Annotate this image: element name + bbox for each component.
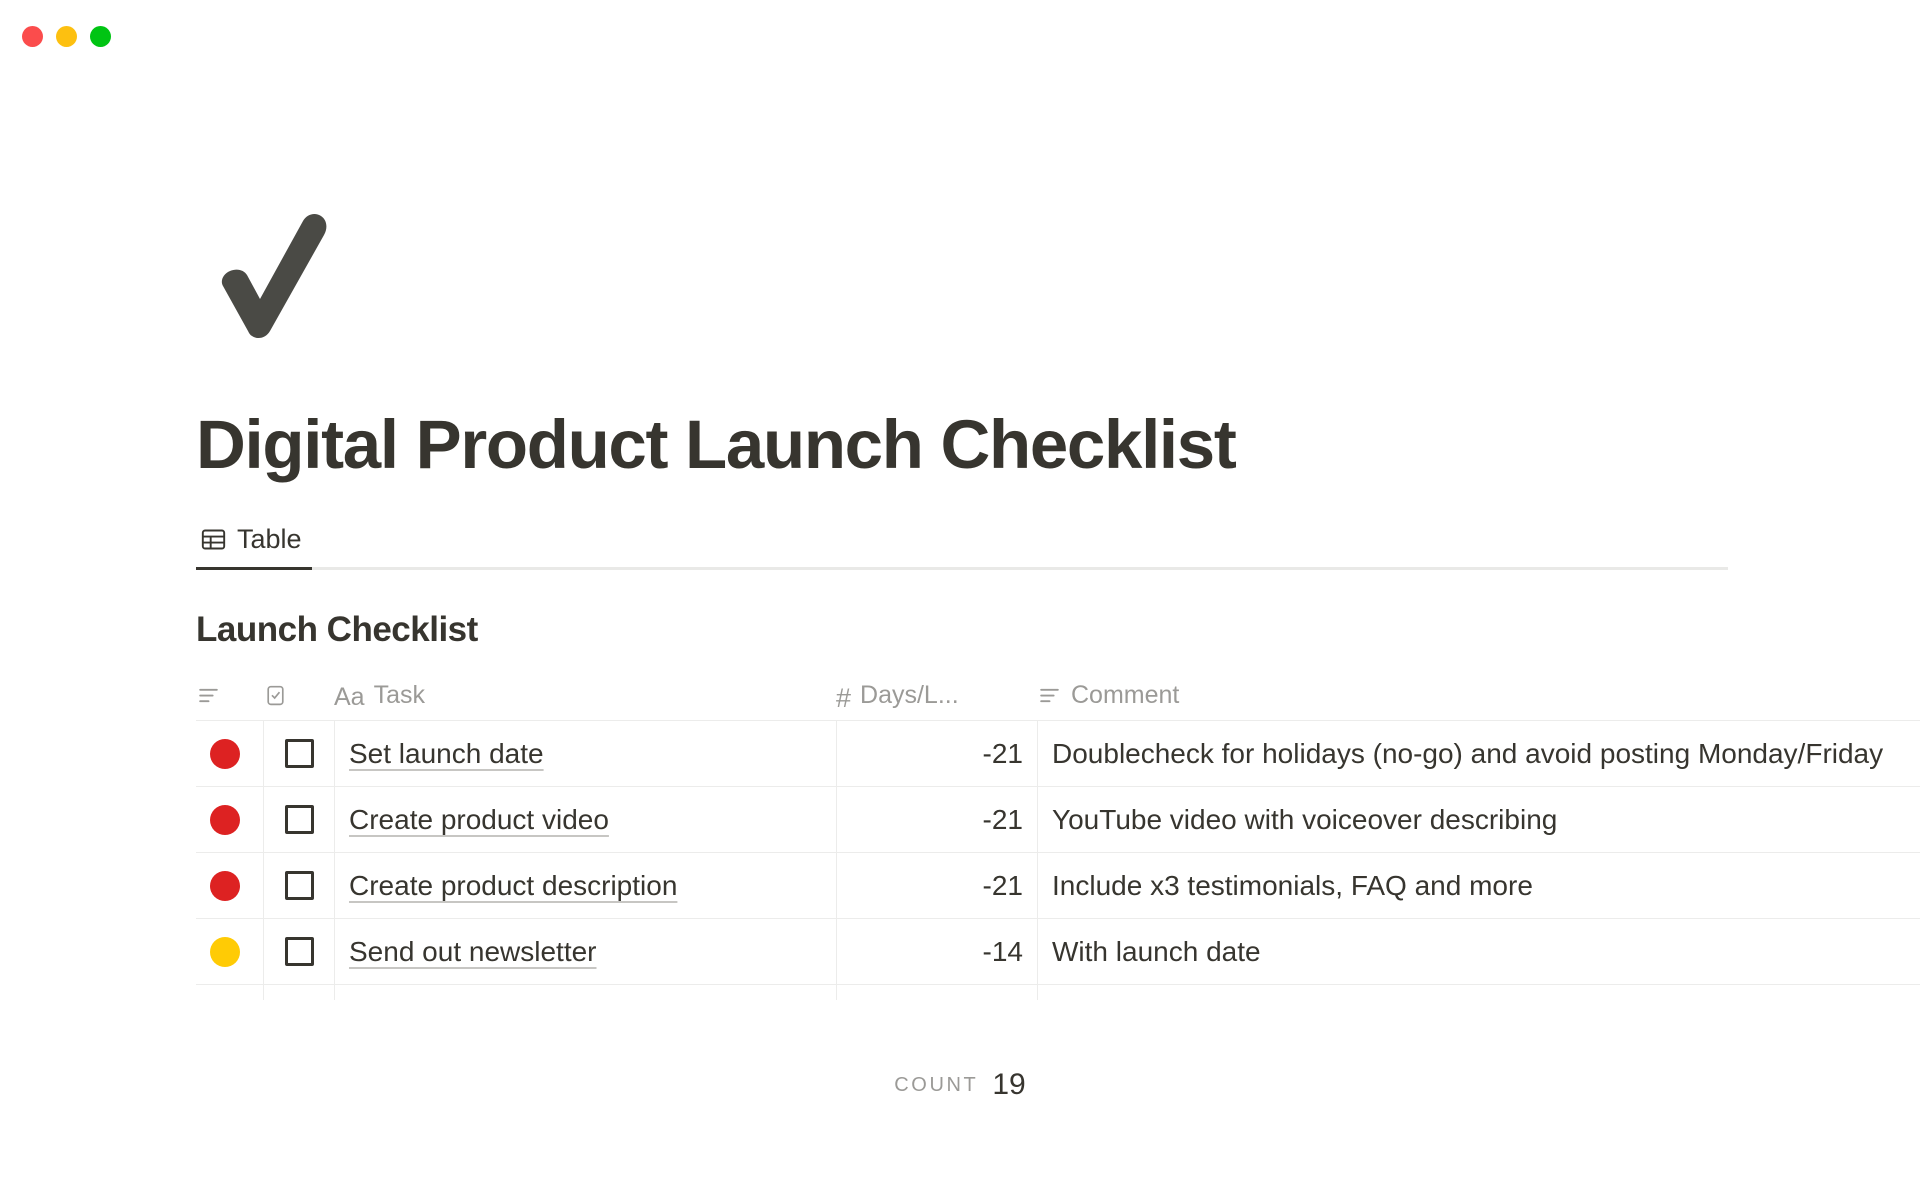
row-task-cell[interactable]: Send out newsletter [334, 919, 836, 984]
row-comment-cell[interactable]: YouTube video with voiceover describing [1037, 787, 1920, 852]
row-checkbox[interactable] [285, 739, 314, 768]
row-comment-value: With launch date [1052, 936, 1261, 968]
row-done-cell[interactable] [263, 853, 334, 918]
row-status-cell[interactable] [196, 919, 263, 984]
number-hash-icon: # [836, 683, 851, 708]
column-header-days-label: Days/L... [860, 681, 959, 710]
row-task-link[interactable]: Set launch date [349, 738, 544, 770]
row-checkbox[interactable] [285, 871, 314, 900]
row-done-cell[interactable] [263, 787, 334, 852]
table-row[interactable]: Set launch date -21 Doublecheck for holi… [196, 720, 1920, 786]
row-done-cell[interactable] [263, 721, 334, 786]
page-title: Digital Product Launch Checklist [196, 408, 1920, 481]
row-task-link[interactable]: Create product description [349, 870, 677, 902]
row-comment-cell[interactable]: With launch date [1037, 919, 1920, 984]
row-checkbox[interactable] [285, 805, 314, 834]
database-title: Launch Checklist [196, 610, 1920, 650]
row-status-cell[interactable] [196, 853, 263, 918]
window-zoom-button[interactable] [90, 26, 111, 47]
red-circle-icon [210, 805, 240, 835]
table-row[interactable]: Send out newsletter -14 With launch date [196, 918, 1920, 984]
row-comment-value: Doublecheck for holidays (no-go) and avo… [1052, 738, 1883, 770]
view-tabs: Table [196, 518, 1728, 570]
row-task-link[interactable]: Create product video [349, 804, 609, 836]
column-header-comment[interactable]: Comment [1037, 681, 1920, 710]
table-row[interactable]: Create product video -21 YouTube video w… [196, 786, 1920, 852]
row-comment-cell[interactable] [1037, 985, 1920, 1000]
checkbox-icon [263, 683, 288, 708]
row-done-cell[interactable] [263, 919, 334, 984]
row-days-cell[interactable]: -14 [836, 919, 1037, 984]
page-content: Digital Product Launch Checklist Table L… [0, 72, 1920, 1200]
table-row[interactable]: Create product description -21 Include x… [196, 852, 1920, 918]
table-icon [200, 526, 227, 553]
row-comment-value: YouTube video with voiceover describing [1052, 804, 1557, 836]
column-header-days[interactable]: # Days/L... [836, 681, 1037, 710]
row-days-value: -21 [983, 738, 1023, 770]
red-circle-icon [210, 739, 240, 769]
row-task-cell[interactable]: Set launch date [334, 721, 836, 786]
row-checkbox[interactable] [285, 937, 314, 966]
database-table: Aa Task # Days/L... Comment [196, 670, 1920, 1000]
row-days-cell[interactable]: -21 [836, 787, 1037, 852]
row-days-cell[interactable]: -21 [836, 853, 1037, 918]
red-circle-icon [210, 871, 240, 901]
table-footer: Count 19 [0, 1055, 1920, 1115]
text-lines-icon [1037, 683, 1062, 708]
row-days-cell[interactable]: -21 [836, 721, 1037, 786]
row-status-cell[interactable] [196, 721, 263, 786]
yellow-circle-icon [210, 937, 240, 967]
app-window: Digital Product Launch Checklist Table L… [0, 0, 1920, 1200]
tab-table-label: Table [237, 524, 302, 555]
table-row[interactable] [196, 984, 1920, 1000]
window-titlebar [0, 0, 1920, 72]
page-icon-check-mark-icon[interactable] [196, 198, 346, 348]
column-header-comment-label: Comment [1071, 681, 1179, 710]
row-task-cell[interactable]: Create product description [334, 853, 836, 918]
row-days-value: -21 [983, 804, 1023, 836]
row-task-cell[interactable]: Create product video [334, 787, 836, 852]
count-label[interactable]: Count [894, 1074, 978, 1097]
row-comment-cell[interactable]: Doublecheck for holidays (no-go) and avo… [1037, 721, 1920, 786]
column-header-task-label: Task [374, 681, 425, 710]
column-header-task[interactable]: Aa Task [334, 681, 836, 710]
row-days-cell[interactable] [836, 985, 1037, 1000]
row-comment-cell[interactable]: Include x3 testimonials, FAQ and more [1037, 853, 1920, 918]
row-comment-value: Include x3 testimonials, FAQ and more [1052, 870, 1533, 902]
title-type-icon: Aa [334, 683, 365, 708]
window-close-button[interactable] [22, 26, 43, 47]
window-minimize-button[interactable] [56, 26, 77, 47]
row-status-cell[interactable] [196, 787, 263, 852]
row-days-value: -14 [983, 936, 1023, 968]
count-value: 19 [992, 1068, 1025, 1102]
tab-table[interactable]: Table [196, 518, 312, 567]
row-done-cell[interactable] [263, 985, 334, 1000]
row-task-link[interactable]: Send out newsletter [349, 936, 597, 968]
column-header-done[interactable] [263, 683, 334, 708]
row-task-cell[interactable] [334, 985, 836, 1000]
row-status-cell[interactable] [196, 985, 263, 1000]
select-lines-icon [196, 683, 221, 708]
row-days-value: -21 [983, 870, 1023, 902]
column-header-status[interactable] [196, 683, 263, 708]
table-header-row: Aa Task # Days/L... Comment [196, 670, 1920, 720]
